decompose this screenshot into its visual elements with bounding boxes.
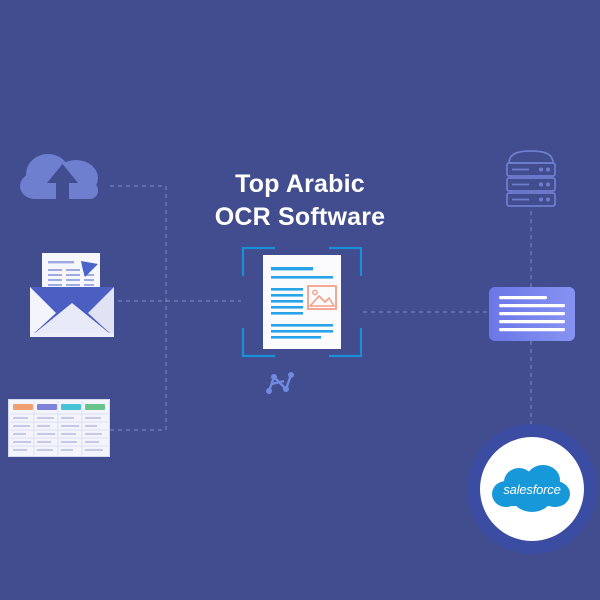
scanned-document-icon [241,246,363,358]
cloud-upload-icon [18,148,110,210]
email-envelope-icon [26,253,118,341]
salesforce-wordmark: salesforce [491,464,573,516]
extracted-text-card-icon [489,287,575,341]
spreadsheet-table-icon [8,399,110,457]
illustration-canvas: Top Arabic OCR Software [0,0,600,600]
connector-cloud-to-bus [110,186,166,430]
salesforce-logo: salesforce [491,464,573,516]
salesforce-integration-icon: salesforce [467,424,597,534]
server-stack-icon [503,147,559,211]
node-graph-glyph-icon [264,370,296,396]
